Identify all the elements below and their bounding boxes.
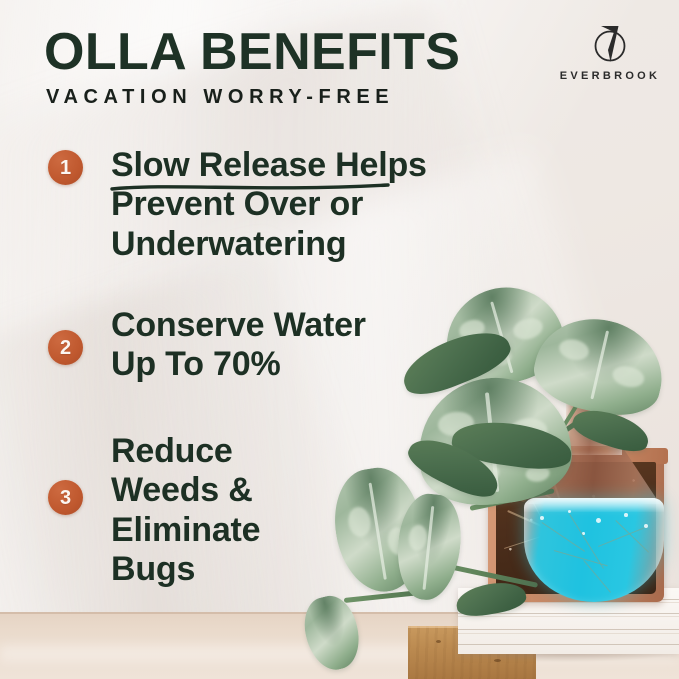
wood-knot-icon xyxy=(436,640,441,643)
circled-v-monogram-icon xyxy=(588,22,632,66)
benefit-text-1: Slow Release Helps Prevent Over or Under… xyxy=(111,146,531,264)
brand-logo: EVERBROOK xyxy=(548,22,672,82)
water-surface xyxy=(524,498,664,512)
benefit-badge-2: 2 xyxy=(48,330,83,365)
benefit-text-3: Reduce Weeds & Eliminate Bugs xyxy=(111,432,411,590)
page-title: OLLA BENEFITS xyxy=(44,26,460,79)
benefit-text-2: Conserve Water Up To 70% xyxy=(111,306,511,385)
page-subtitle: VACATION WORRY-FREE xyxy=(46,86,394,109)
benefit-badge-3: 3 xyxy=(48,480,83,515)
olla-benefits-poster: OLLA BENEFITS VACATION WORRY-FREE EVERBR… xyxy=(0,0,679,679)
benefit-badge-1: 1 xyxy=(48,150,83,185)
brand-wordmark: EVERBROOK xyxy=(548,70,672,82)
